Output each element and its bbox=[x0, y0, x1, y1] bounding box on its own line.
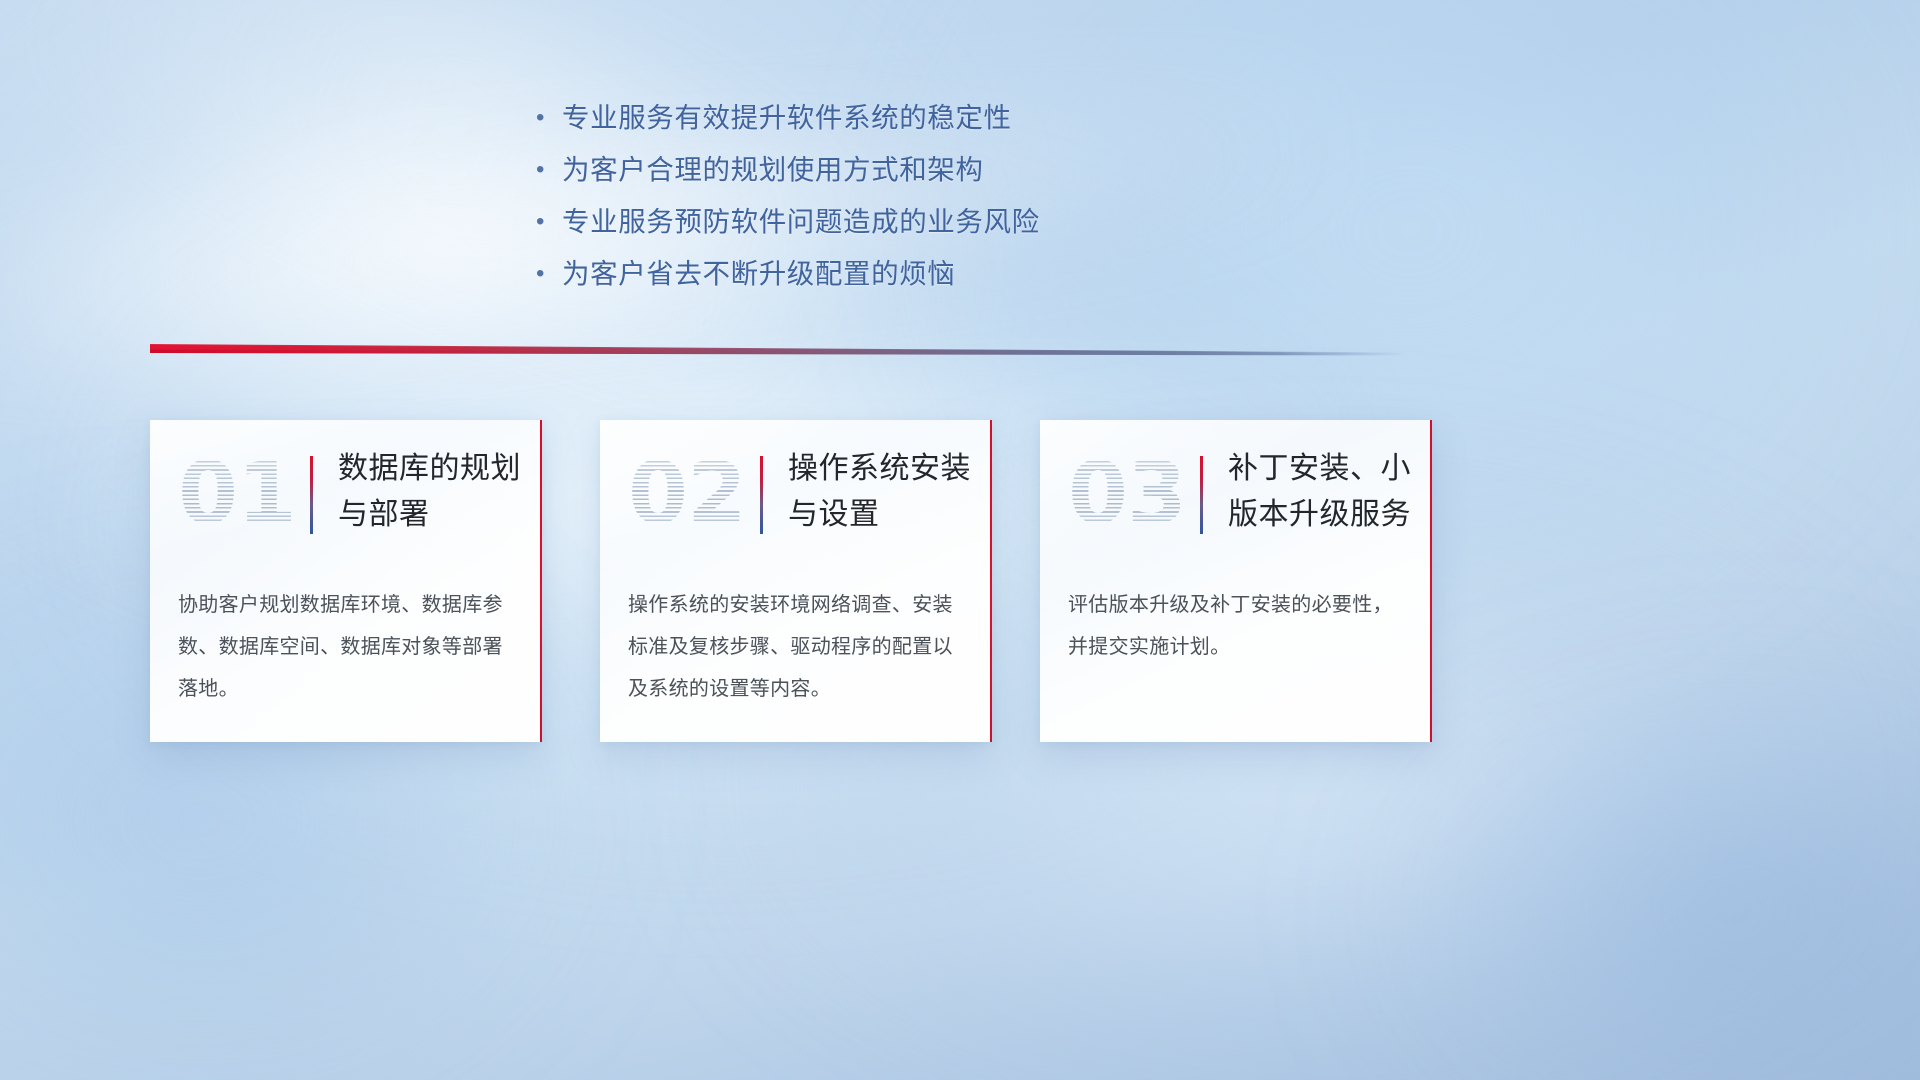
card-number-watermark: 01 bbox=[172, 444, 302, 544]
section-divider bbox=[150, 344, 1405, 362]
card-title: 补丁安装、小版本升级服务 bbox=[1228, 446, 1418, 538]
list-item: • 专业服务预防软件问题造成的业务风险 bbox=[536, 196, 1296, 248]
card-description: 协助客户规划数据库环境、数据库参数、数据库空间、数据库对象等部署落地。 bbox=[178, 584, 514, 710]
bullet-text: 专业服务有效提升软件系统的稳定性 bbox=[562, 92, 1012, 144]
service-card[interactable]: 02 操作系统安装与设置 操作系统的安装环境网络调查、安装标准及复核步骤、驱动程… bbox=[600, 420, 992, 742]
service-card[interactable]: 01 数据库的规划与部署 协助客户规划数据库环境、数据库参数、数据库空间、数据库… bbox=[150, 420, 542, 742]
list-item: • 专业服务有效提升软件系统的稳定性 bbox=[536, 92, 1296, 144]
bullet-dot-icon: • bbox=[536, 248, 562, 300]
bullet-dot-icon: • bbox=[536, 196, 562, 248]
card-description: 操作系统的安装环境网络调查、安装标准及复核步骤、驱动程序的配置以及系统的设置等内… bbox=[628, 584, 964, 710]
card-number-text: 01 bbox=[178, 444, 296, 544]
list-item: • 为客户合理的规划使用方式和架构 bbox=[536, 144, 1296, 196]
card-title: 操作系统安装与设置 bbox=[788, 446, 978, 538]
service-card-list: 01 数据库的规划与部署 协助客户规划数据库环境、数据库参数、数据库空间、数据库… bbox=[150, 420, 1450, 745]
card-number-watermark: 02 bbox=[622, 444, 752, 544]
card-description: 评估版本升级及补丁安装的必要性，并提交实施计划。 bbox=[1068, 584, 1404, 668]
card-header: 01 数据库的规划与部署 bbox=[150, 420, 542, 570]
card-header: 02 操作系统安装与设置 bbox=[600, 420, 992, 570]
bullet-text: 为客户合理的规划使用方式和架构 bbox=[562, 144, 984, 196]
bullet-text: 为客户省去不断升级配置的烦恼 bbox=[562, 248, 955, 300]
card-title: 数据库的规划与部署 bbox=[338, 446, 528, 538]
bullet-dot-icon: • bbox=[536, 144, 562, 196]
bullet-dot-icon: • bbox=[536, 92, 562, 144]
card-accent-bar bbox=[1200, 456, 1203, 534]
card-number-text: 02 bbox=[628, 444, 746, 544]
card-number-watermark: 03 bbox=[1062, 444, 1192, 544]
benefits-bullet-list: • 专业服务有效提升软件系统的稳定性 • 为客户合理的规划使用方式和架构 • 专… bbox=[536, 92, 1296, 300]
list-item: • 为客户省去不断升级配置的烦恼 bbox=[536, 248, 1296, 300]
bullet-text: 专业服务预防软件问题造成的业务风险 bbox=[562, 196, 1040, 248]
card-header: 03 补丁安装、小版本升级服务 bbox=[1040, 420, 1432, 570]
card-number-text: 03 bbox=[1068, 444, 1186, 544]
card-accent-bar bbox=[760, 456, 763, 534]
service-card[interactable]: 03 补丁安装、小版本升级服务 评估版本升级及补丁安装的必要性，并提交实施计划。 bbox=[1040, 420, 1432, 742]
card-accent-bar bbox=[310, 456, 313, 534]
